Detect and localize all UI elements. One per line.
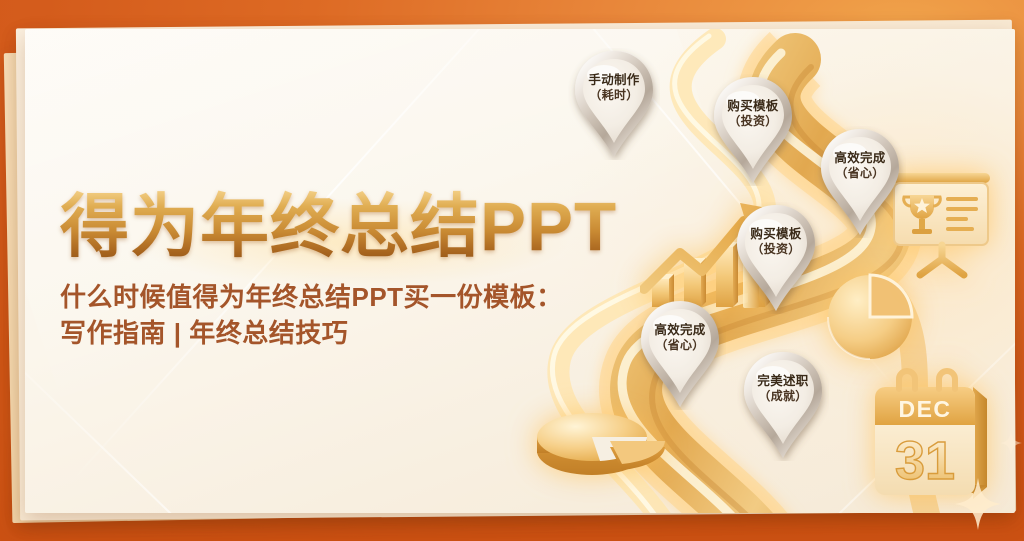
subtitle-line-1: 什么时候值得为年终总结PPT买一份模板： (60, 279, 640, 316)
pin-shape-icon (634, 298, 726, 410)
page-title: 得为年终总结PPT (60, 190, 640, 265)
paper-layer-front: DEC 31 得为年终总结PPT 什么时候值得为年终总结PPT买一份模板： 写作… (25, 29, 1015, 513)
sparkle-icon (1000, 430, 1022, 456)
pin-buy-template-top[interactable]: 购买模板（投资） (707, 74, 799, 186)
sparkle-icon (955, 478, 1001, 530)
pin-shape-icon (568, 48, 660, 160)
pin-efficient-top[interactable]: 高效完成（省心） (814, 126, 906, 238)
pin-shape-icon (707, 74, 799, 186)
calendar-month-text: DEC (898, 396, 951, 422)
pin-shape-icon (814, 126, 906, 238)
pin-efficient-low[interactable]: 高效完成（省心） (634, 298, 726, 410)
page-subtitle: 什么时候值得为年终总结PPT买一份模板： 写作指南 | 年终总结技巧 (60, 279, 640, 353)
pin-manual[interactable]: 手动制作（耗时） (568, 48, 660, 160)
pin-perfect-report[interactable]: 完美述职（成就） (737, 349, 829, 461)
subtitle-line-2: 写作指南 | 年终总结技巧 (60, 315, 640, 352)
poster-canvas: DEC 31 得为年终总结PPT 什么时候值得为年终总结PPT买一份模板： 写作… (0, 0, 1024, 541)
pin-shape-icon (730, 202, 822, 314)
pie-chart-icon (820, 267, 925, 367)
calendar-day-text: 31 (895, 431, 955, 491)
pin-buy-template-mid[interactable]: 购买模板（投资） (730, 202, 822, 314)
title-block: 得为年终总结PPT 什么时候值得为年终总结PPT买一份模板： 写作指南 | 年终… (60, 190, 640, 352)
pin-shape-icon (737, 349, 829, 461)
